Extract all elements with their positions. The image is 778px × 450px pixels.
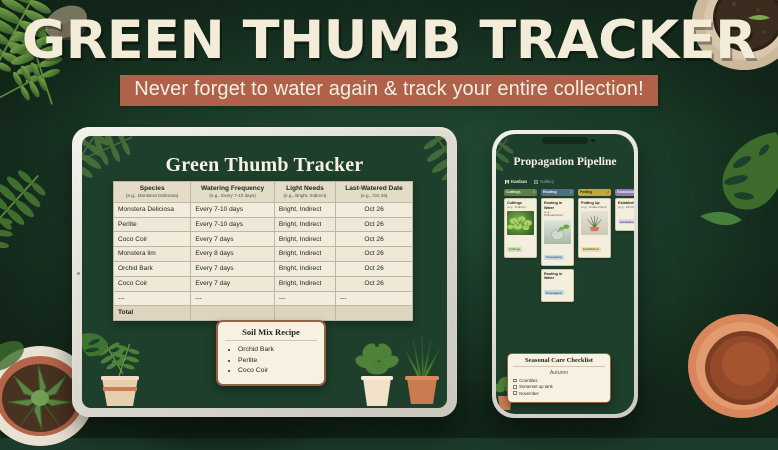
cell-date[interactable]: Oct 26 (336, 202, 413, 217)
cell-species[interactable]: --- (114, 291, 191, 306)
card-tag[interactable]: Established (581, 247, 601, 252)
table-row[interactable]: Coco Coir Every 7 day Bright, Indirect O… (114, 276, 413, 291)
soil-ingredient-list: Orchid Bark Perlite Coco Coir (225, 345, 317, 377)
cell-watering[interactable]: Every 7 days (191, 232, 274, 247)
col-hint: (e.g., Bright, Indirect) (278, 193, 332, 198)
cell-light[interactable]: Bright, Indirect (274, 232, 335, 247)
total-cell (336, 306, 413, 321)
column-header-last-watered-date[interactable]: Last-Watered Date (e.g., Oct 26) (336, 182, 413, 203)
cell-light[interactable]: Bright, Indirect (274, 262, 335, 277)
card-subtitle: (e.g., Philodendron) (544, 211, 571, 218)
table-header-row: Species (e.g., Monstera Deliciosa) Water… (114, 182, 413, 203)
table-row[interactable]: Coco Coir Every 7 days Bright, Indirect … (114, 232, 413, 247)
card-tag[interactable]: Propagation (544, 255, 564, 260)
table-row[interactable]: Monstera Deliciosa Every 7-10 days Brigh… (114, 202, 413, 217)
cell-watering[interactable]: Every 8 days (191, 247, 274, 262)
checklist-item-label: November (519, 391, 539, 396)
total-cell (191, 306, 274, 321)
table-row[interactable]: Perlite Every 7-10 days Bright, Indirect… (114, 217, 413, 232)
table-total-row: Total (114, 306, 413, 321)
cell-light[interactable]: Bright, Indirect (274, 202, 335, 217)
cell-date[interactable]: Oct 26 (336, 217, 413, 232)
snake-plant-photo (581, 211, 608, 235)
cell-watering[interactable]: Every 7 day (191, 276, 274, 291)
col-label: Watering Frequency (201, 185, 264, 192)
column-name: Cuttings (506, 190, 521, 194)
kanban-board-icon (505, 180, 509, 184)
checklist-item[interactable]: November (513, 391, 605, 396)
seasonal-care-checklist-card: Seasonal Care Checklist Autumn Crumbles … (507, 353, 611, 403)
checkbox-icon[interactable] (513, 379, 517, 383)
cell-light[interactable]: Bright, Indirect (274, 247, 335, 262)
kanban-column-rooting[interactable]: Rooting 2 Rooting in Water (e.g., Philod… (541, 189, 574, 309)
table-row[interactable]: Orchid Bark Every 7 days Bright, Indirec… (114, 262, 413, 277)
phone-device-mockup: Propagation Pipeline Kanban Gallery (492, 130, 638, 418)
tab-kanban[interactable]: Kanban (505, 179, 527, 184)
list-item: Perlite (238, 356, 317, 367)
checklist-title: Seasonal Care Checklist (513, 357, 605, 367)
checkbox-icon[interactable] (513, 391, 517, 395)
total-label: Total (114, 306, 191, 321)
column-header-light-needs[interactable]: Light Needs (e.g., Bright, Indirect) (274, 182, 335, 203)
pothos-cuttings-photo (507, 211, 534, 235)
column-header[interactable]: Rooting 2 (541, 189, 574, 196)
phone-camera-icon (591, 139, 595, 143)
kanban-column-potting[interactable]: Potting 2 Potting Up (e.g., Snake Plant) (578, 189, 611, 309)
card-title: Rooting in Water (544, 201, 571, 210)
view-switcher: Kanban Gallery (505, 179, 554, 184)
cell-species[interactable]: Coco Coir (114, 276, 191, 291)
phone-screen: Propagation Pipeline Kanban Gallery (496, 134, 634, 414)
cell-date[interactable]: Oct 26 (336, 247, 413, 262)
tablet-page-title: Green Thumb Tracker (82, 154, 447, 177)
column-header[interactable]: Cuttings 3 (504, 189, 537, 196)
card-tag[interactable]: Established (618, 219, 634, 224)
checklist-item[interactable]: Somerset up tank (513, 384, 605, 389)
rooting-jar-photo (544, 220, 571, 244)
cell-species[interactable]: Perlite (114, 217, 191, 232)
phone-notch (542, 137, 588, 144)
kanban-column-cuttings[interactable]: Cuttings 3 Cuttings (e.g., Pothos) (504, 189, 537, 309)
table-body: Monstera Deliciosa Every 7-10 days Brigh… (114, 202, 413, 320)
banner-header: GREEN THUMB TRACKER Never forget to wate… (0, 14, 778, 106)
list-item: Coco Coir (238, 366, 317, 377)
cell-watering[interactable]: Every 7-10 days (191, 217, 274, 232)
kanban-column-established[interactable]: Established 1 Established (e.g., ZZ Plan… (615, 189, 634, 309)
col-label: Light Needs (286, 185, 324, 192)
card-subtitle: (e.g., ZZ Plant) (618, 206, 634, 210)
column-count: 2 (607, 190, 609, 194)
page-subtitle: Never forget to water again & track your… (120, 75, 657, 106)
cell-date[interactable]: Oct 26 (336, 232, 413, 247)
kanban-card[interactable]: Rooting in Water (e.g., Philodendron) Pr… (541, 198, 574, 266)
total-cell (274, 306, 335, 321)
table-row-empty[interactable]: --- --- --- --- (114, 291, 413, 306)
gallery-grid-icon (534, 180, 538, 184)
cell-light[interactable]: Bright, Indirect (274, 217, 335, 232)
card-subtitle: (e.g., Snake Plant) (581, 206, 608, 210)
kanban-card[interactable]: Potting Up (e.g., Snake Plant) Estab (578, 198, 611, 258)
soil-card-title: Soil Mix Recipe (225, 327, 317, 341)
phone-page-title: Propagation Pipeline (496, 156, 634, 168)
cell-species[interactable]: Coco Coir (114, 232, 191, 247)
column-count: 3 (533, 190, 535, 194)
cell-species[interactable]: Monstera lim (114, 247, 191, 262)
monstera-pot-illustration-icon (82, 328, 118, 382)
snake-plant-illustration-icon (399, 334, 445, 408)
checklist-season: Autumn (513, 370, 605, 376)
kanban-card[interactable]: Cuttings (e.g., Pothos) Cuttings (504, 198, 537, 258)
column-name: Potting (580, 190, 592, 194)
column-header-watering-frequency[interactable]: Watering Frequency (e.g., Every 7-10 day… (191, 182, 274, 203)
tab-gallery-label: Gallery (540, 179, 554, 184)
col-hint: (e.g., Every 7-10 days) (194, 193, 270, 198)
checklist-item-label: Somerset up tank (519, 384, 553, 389)
checkbox-icon[interactable] (513, 385, 517, 389)
kanban-card[interactable]: Rooting in Water Propagation (541, 269, 574, 302)
kanban-board[interactable]: Cuttings 3 Cuttings (e.g., Pothos) (504, 189, 634, 309)
list-item: Orchid Bark (238, 345, 317, 356)
column-name: Rooting (543, 190, 557, 194)
page-title: GREEN THUMB TRACKER (0, 14, 778, 68)
cell-watering[interactable]: Every 7 days (191, 262, 274, 277)
cell-watering[interactable]: Every 7-10 days (191, 202, 274, 217)
cell-date[interactable]: --- (336, 291, 413, 306)
card-subtitle: (e.g., Pothos) (507, 206, 534, 210)
cell-species[interactable]: Monstera Deliciosa (114, 202, 191, 217)
column-header[interactable]: Potting 2 (578, 189, 611, 196)
plant-tracker-table-wrapper: Species (e.g., Monstera Deliciosa) Water… (113, 181, 413, 321)
column-name: Established (617, 190, 634, 194)
table-row[interactable]: Monstera lim Every 8 days Bright, Indire… (114, 247, 413, 262)
cell-light[interactable]: Bright, Indirect (274, 276, 335, 291)
soil-mix-recipe-card: Soil Mix Recipe Orchid Bark Perlite Coco… (216, 320, 326, 386)
cell-species[interactable]: Orchid Bark (114, 262, 191, 277)
cell-watering[interactable]: --- (191, 291, 274, 306)
column-count: 2 (570, 190, 572, 194)
column-header-species[interactable]: Species (e.g., Monstera Deliciosa) (114, 182, 191, 203)
cell-date[interactable]: Oct 26 (336, 262, 413, 277)
card-title: Rooting in Water (544, 272, 571, 281)
table-header: Species (e.g., Monstera Deliciosa) Water… (114, 182, 413, 203)
tab-kanban-label: Kanban (511, 179, 527, 184)
tab-gallery[interactable]: Gallery (534, 179, 554, 184)
kanban-card[interactable]: Established (e.g., ZZ Plant) Established (615, 198, 634, 231)
checklist-item-label: Crumbles (519, 378, 537, 383)
col-label: Species (140, 185, 165, 192)
plant-tracker-table[interactable]: Species (e.g., Monstera Deliciosa) Water… (113, 181, 413, 321)
column-header[interactable]: Established 1 (615, 189, 634, 196)
checklist-item[interactable]: Crumbles (513, 378, 605, 383)
col-label: Last-Watered Date (345, 185, 403, 192)
cell-date[interactable]: Oct 26 (336, 276, 413, 291)
potted-plant-illustration-icon (351, 338, 403, 408)
card-tag[interactable]: Cuttings (507, 247, 522, 252)
col-hint: (e.g., Monstera Deliciosa) (117, 193, 187, 198)
cell-light[interactable]: --- (274, 291, 335, 306)
card-tag[interactable]: Propagation (544, 290, 564, 295)
col-hint: (e.g., Oct 26) (339, 193, 409, 198)
